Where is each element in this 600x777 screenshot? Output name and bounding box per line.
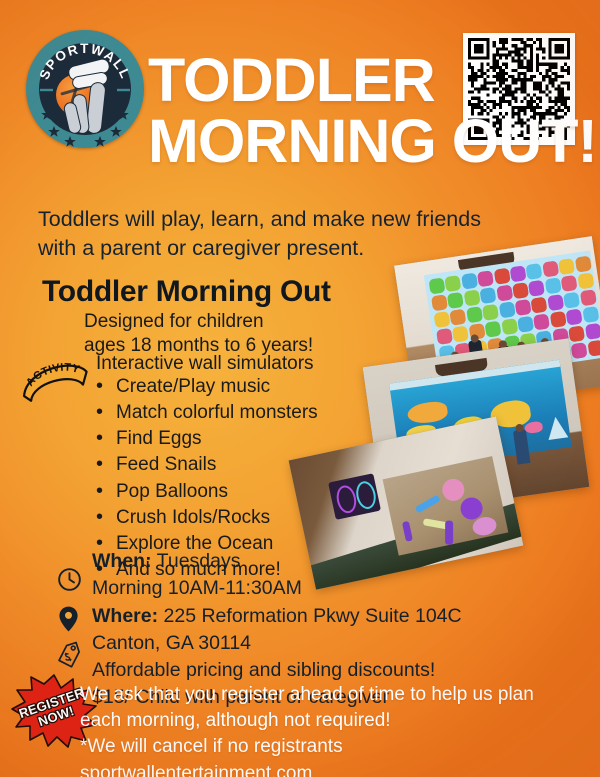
monster-tile <box>477 270 494 287</box>
monster-tile <box>461 273 478 290</box>
monster-tile <box>512 282 529 299</box>
headline-line-2: MORNING OUT! <box>148 113 598 170</box>
monster-tile <box>563 292 580 309</box>
monster-tile <box>501 318 518 335</box>
location-pin-icon <box>56 605 81 633</box>
price-tag-icon <box>53 639 87 672</box>
monster-tile <box>493 268 510 285</box>
monster-tile <box>561 275 578 292</box>
monster-tile <box>550 311 567 328</box>
monster-tile <box>547 294 564 311</box>
monster-tile <box>587 340 600 357</box>
activity-badge: ACTIVITY <box>15 350 94 405</box>
activity-bullet-1: Match colorful monsters <box>92 400 318 426</box>
monster-tile <box>450 309 467 326</box>
activity-bullet-0: Create/Play music <box>92 374 318 400</box>
when-label: When: <box>92 550 152 572</box>
monster-tile <box>584 323 600 340</box>
svg-text:ACTIVITY: ACTIVITY <box>22 358 84 391</box>
monster-tile <box>526 263 543 280</box>
monster-tile <box>447 292 464 309</box>
activity-bullet-5: Crush Idols/Rocks <box>92 505 318 531</box>
activity-bullet-3: Feed Snails <box>92 452 318 478</box>
activity-bullet-4: Pop Balloons <box>92 479 318 505</box>
clock-icon <box>56 566 83 593</box>
monster-tile <box>531 297 548 314</box>
monster-tile <box>433 311 450 328</box>
subtitle: Toddlers will play, learn, and make new … <box>38 205 568 262</box>
simulators-line: Interactive wall simulators <box>96 352 314 376</box>
monster-tile <box>579 289 596 306</box>
subtitle-line-1: Toddlers will play, learn, and make new … <box>38 205 568 234</box>
monster-tile <box>517 316 534 333</box>
monster-tile <box>498 301 515 318</box>
where-value: 225 Reformation Pkwy Suite 104C <box>164 605 462 627</box>
where-row: Where: 225 Reformation Pkwy Suite 104C <box>92 603 562 630</box>
footer-line-1: We ask that you register ahead of time t… <box>80 682 590 708</box>
where-label: Where: <box>92 605 158 627</box>
subtitle-line-2: with a parent or caregiver present. <box>38 234 568 263</box>
monster-tile <box>574 256 591 273</box>
age-line-1: Designed for children <box>84 310 414 334</box>
flyer-poster: SPORTWALL TOD <box>0 0 600 777</box>
monster-tile <box>485 321 502 338</box>
monster-tile <box>480 287 497 304</box>
monster-tile <box>452 325 469 342</box>
monster-tile <box>533 313 550 330</box>
pricing-note: Affordable pricing and sibling discounts… <box>92 657 562 684</box>
monster-tile <box>445 275 462 292</box>
when-value: Tuesdays <box>157 550 241 572</box>
sportwall-logo: SPORTWALL <box>26 30 144 148</box>
monster-tile <box>528 280 545 297</box>
footer-line-3: *We will cancel if no registrants <box>80 734 590 760</box>
age-range-text: Designed for children ages 18 months to … <box>84 310 414 358</box>
monster-tile <box>466 306 483 323</box>
city-row: Canton, GA 30114 <box>92 630 562 657</box>
monster-tile <box>577 272 594 289</box>
monster-tile <box>436 328 453 345</box>
monster-tile <box>428 277 445 294</box>
footer-text: We ask that you register ahead of time t… <box>80 682 590 777</box>
footer-line-2: each morning, although not required! <box>80 708 590 734</box>
website-link[interactable]: sportwallentertainment.com <box>80 761 590 777</box>
monster-tile <box>496 285 513 302</box>
monster-tile <box>568 325 585 342</box>
monster-tile <box>510 265 527 282</box>
monster-tile <box>566 308 583 325</box>
when-row: When: Tuesdays <box>92 548 562 575</box>
monster-tile <box>582 306 599 323</box>
monster-tile <box>482 304 499 321</box>
section-title: Toddler Morning Out <box>42 275 331 309</box>
info-icon-column <box>56 566 92 681</box>
activity-bullet-2: Find Eggs <box>92 426 318 452</box>
monster-tile <box>545 277 562 294</box>
monster-tile <box>431 294 448 311</box>
headline-line-1: TODDLER <box>148 46 435 114</box>
monster-tile <box>542 260 559 277</box>
monster-tile <box>515 299 532 316</box>
monster-tile <box>571 342 588 359</box>
time-row: Morning 10AM-11:30AM <box>92 575 562 602</box>
page-title: TODDLER MORNING OUT! <box>148 52 598 171</box>
monster-tile <box>463 289 480 306</box>
logo-hand-icon <box>66 60 114 134</box>
